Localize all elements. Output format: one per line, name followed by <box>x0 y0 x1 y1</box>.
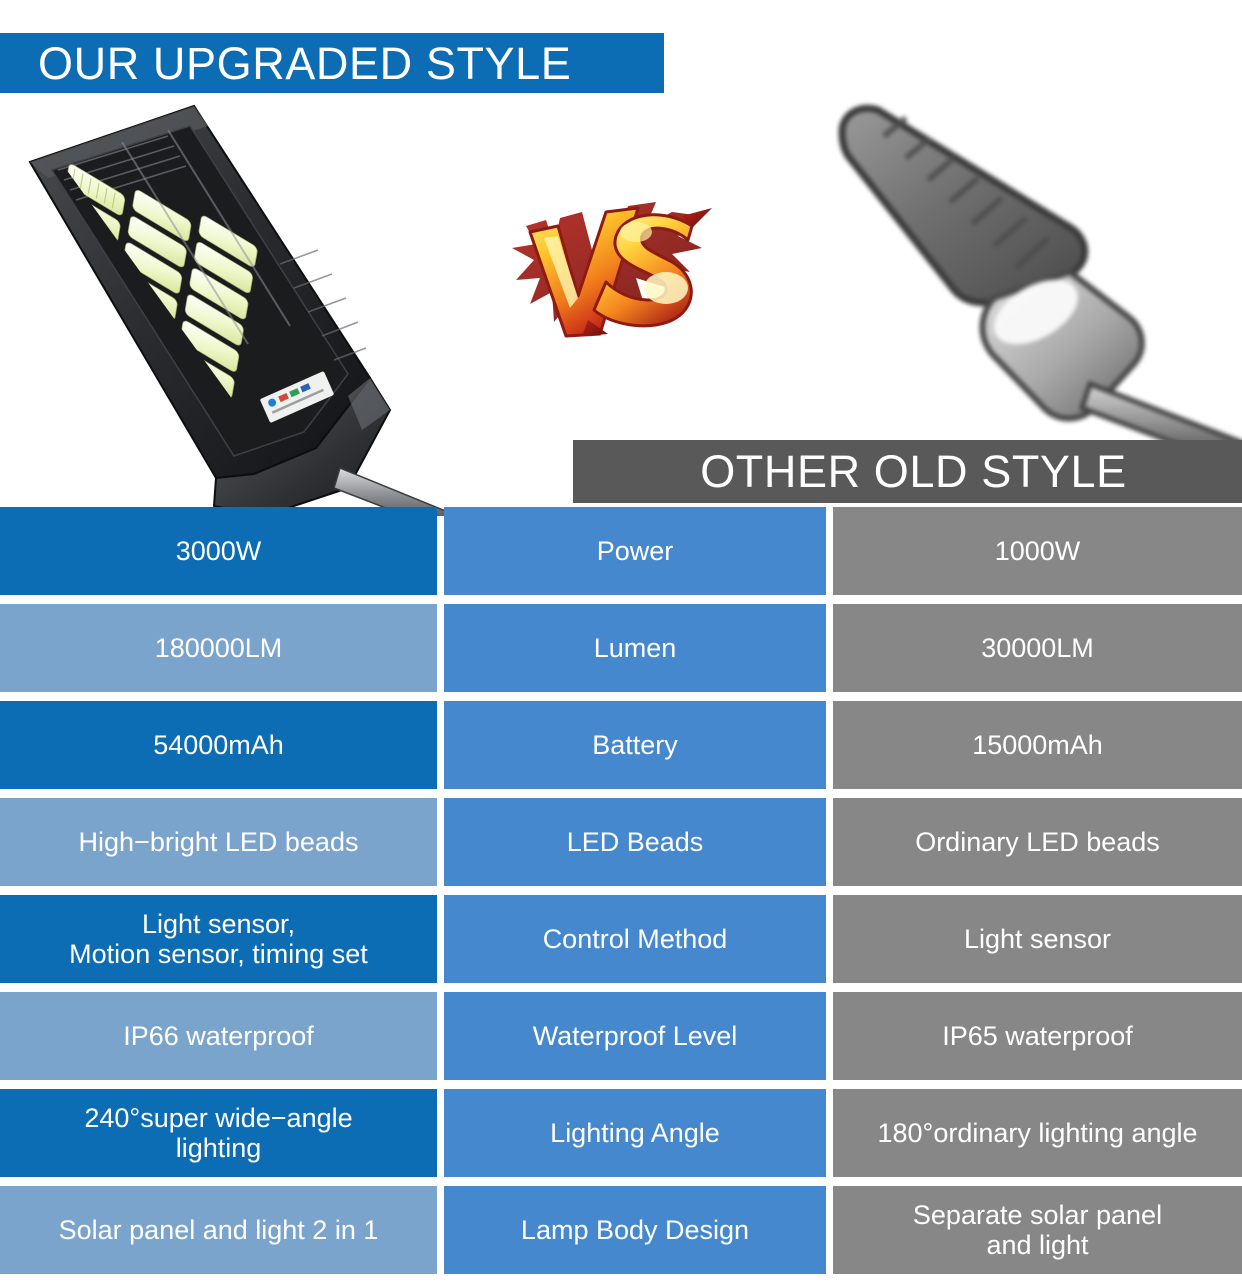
other-value-text: 30000LM <box>981 633 1094 663</box>
spec-label-text: Battery <box>592 730 678 760</box>
cell-spec-label: Waterproof Level <box>444 992 826 1080</box>
ours-value-text: High−bright LED beads <box>79 827 359 857</box>
cell-spec-label: Power <box>444 507 826 595</box>
spec-label-text: Lumen <box>594 633 677 663</box>
other-value-text-line2: and light <box>913 1230 1162 1260</box>
cell-ours-value: Solar panel and light 2 in 1 <box>0 1186 437 1274</box>
cell-ours-value: 240°super wide−angle lighting <box>0 1089 437 1177</box>
table-row: Light sensor, Motion sensor, timing set … <box>0 895 1242 983</box>
cell-other-value: Ordinary LED beads <box>833 798 1242 886</box>
vs-flame-icon <box>496 192 720 342</box>
ours-value-text: 3000W <box>176 536 262 566</box>
cell-ours-value: 180000LM <box>0 604 437 692</box>
other-value-text: 1000W <box>995 536 1081 566</box>
other-old-style-title: OTHER OLD STYLE <box>688 449 1127 494</box>
cell-other-value: Separate solar panel and light <box>833 1186 1242 1274</box>
other-value-text: 15000mAh <box>972 730 1103 760</box>
cell-spec-label: LED Beads <box>444 798 826 886</box>
spec-comparison-table: 3000W Power 1000W 180000LM Lumen 30000LM… <box>0 507 1242 1283</box>
other-value-text: Ordinary LED beads <box>915 827 1160 857</box>
old-street-light-icon <box>798 78 1242 468</box>
spec-label-text: Control Method <box>543 924 728 954</box>
upgraded-style-banner: OUR UPGRADED STYLE <box>0 33 664 93</box>
ours-value-text: 180000LM <box>155 633 283 663</box>
spec-label-text: Lighting Angle <box>550 1118 720 1148</box>
cell-spec-label: Control Method <box>444 895 826 983</box>
spec-label-text: LED Beads <box>567 827 704 857</box>
cell-other-value: 1000W <box>833 507 1242 595</box>
cell-ours-value: 54000mAh <box>0 701 437 789</box>
table-row: High−bright LED beads LED Beads Ordinary… <box>0 798 1242 886</box>
ours-value-text: Light sensor, <box>69 909 368 939</box>
cell-other-value: 15000mAh <box>833 701 1242 789</box>
solar-street-light-image <box>18 96 448 516</box>
table-row: Solar panel and light 2 in 1 Lamp Body D… <box>0 1186 1242 1274</box>
table-row: 180000LM Lumen 30000LM <box>0 604 1242 692</box>
cell-other-value: IP65 waterproof <box>833 992 1242 1080</box>
cell-ours-value: IP66 waterproof <box>0 992 437 1080</box>
other-old-style-banner: OTHER OLD STYLE <box>573 440 1242 503</box>
cell-spec-label: Lamp Body Design <box>444 1186 826 1274</box>
cell-spec-label: Battery <box>444 701 826 789</box>
other-value-text: Light sensor <box>964 924 1111 954</box>
table-row: 3000W Power 1000W <box>0 507 1242 595</box>
table-row: 240°super wide−angle lighting Lighting A… <box>0 1089 1242 1177</box>
old-street-light-image <box>798 78 1242 468</box>
ours-value-text-line2: lighting <box>84 1133 352 1163</box>
other-value-text: 180°ordinary lighting angle <box>877 1118 1197 1148</box>
versus-badge <box>496 192 720 342</box>
cell-ours-value: High−bright LED beads <box>0 798 437 886</box>
cell-spec-label: Lighting Angle <box>444 1089 826 1177</box>
table-row: IP66 waterproof Waterproof Level IP65 wa… <box>0 992 1242 1080</box>
cell-other-value: 30000LM <box>833 604 1242 692</box>
ours-value-text: Solar panel and light 2 in 1 <box>59 1215 379 1245</box>
cell-ours-value: 3000W <box>0 507 437 595</box>
table-row: 54000mAh Battery 15000mAh <box>0 701 1242 789</box>
cell-ours-value: Light sensor, Motion sensor, timing set <box>0 895 437 983</box>
spec-label-text: Power <box>597 536 674 566</box>
cell-other-value: 180°ordinary lighting angle <box>833 1089 1242 1177</box>
solar-street-light-icon <box>18 96 448 516</box>
spec-label-text: Lamp Body Design <box>521 1215 749 1245</box>
ours-value-text: 240°super wide−angle <box>84 1103 352 1133</box>
ours-value-text-line2: Motion sensor, timing set <box>69 939 368 969</box>
cell-other-value: Light sensor <box>833 895 1242 983</box>
other-value-text: IP65 waterproof <box>942 1021 1133 1051</box>
cell-spec-label: Lumen <box>444 604 826 692</box>
other-value-text: Separate solar panel <box>913 1200 1162 1230</box>
upgraded-style-title: OUR UPGRADED STYLE <box>38 41 571 86</box>
spec-label-text: Waterproof Level <box>533 1021 738 1051</box>
ours-value-text: 54000mAh <box>153 730 284 760</box>
ours-value-text: IP66 waterproof <box>123 1021 314 1051</box>
